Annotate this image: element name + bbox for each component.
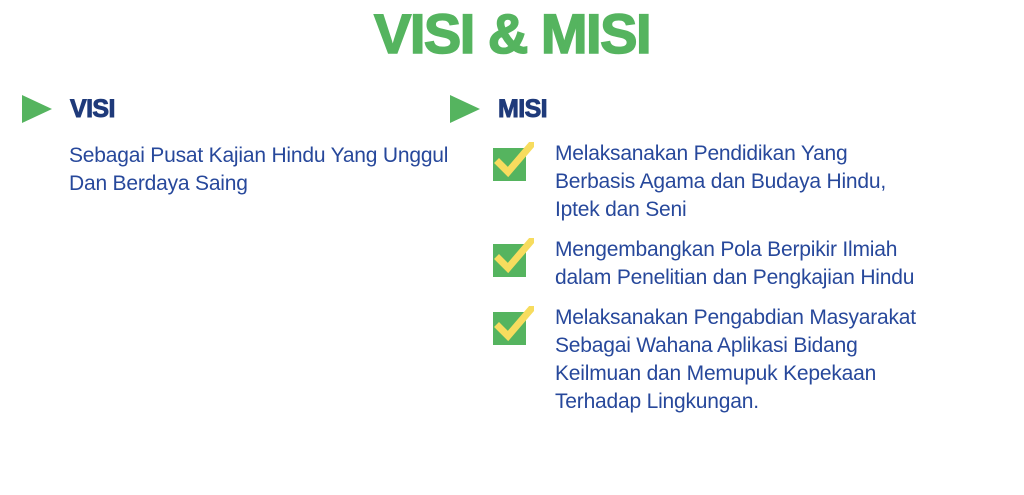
visi-section: VISI Sebagai Pusat Kajian Hindu Yang Ung…	[0, 92, 445, 198]
misi-item-text: Melaksanakan Pendidikan Yang Berbasis Ag…	[555, 140, 933, 224]
content-columns: VISI Sebagai Pusat Kajian Hindu Yang Ung…	[0, 92, 1024, 432]
play-triangle-icon	[22, 95, 52, 123]
checkbox-check-icon	[490, 238, 534, 278]
misi-item-text: Melaksanakan Pengabdian Masyarakat Sebag…	[555, 304, 933, 416]
misi-list: Melaksanakan Pendidikan Yang Berbasis Ag…	[490, 140, 1005, 416]
misi-heading-label: MISI	[498, 97, 547, 122]
play-triangle-icon	[450, 95, 480, 123]
checkbox-check-icon	[490, 142, 534, 182]
misi-section: MISI Melaksanakan Pendidikan Yang Berbas…	[445, 92, 1005, 432]
list-item: Melaksanakan Pendidikan Yang Berbasis Ag…	[490, 140, 1005, 224]
misi-item-text: Mengembangkan Pola Berpikir Ilmiah dalam…	[555, 236, 933, 292]
misi-heading: MISI	[450, 92, 1005, 126]
list-item: Melaksanakan Pengabdian Masyarakat Sebag…	[490, 304, 1005, 416]
page-title: VISI & MISI	[0, 6, 1024, 62]
list-item: Mengembangkan Pola Berpikir Ilmiah dalam…	[490, 236, 1005, 292]
checkbox-check-icon	[490, 306, 534, 346]
visi-body-text: Sebagai Pusat Kajian Hindu Yang Unggul D…	[69, 142, 449, 198]
visi-heading-label: VISI	[70, 97, 115, 122]
visi-heading: VISI	[22, 92, 445, 126]
